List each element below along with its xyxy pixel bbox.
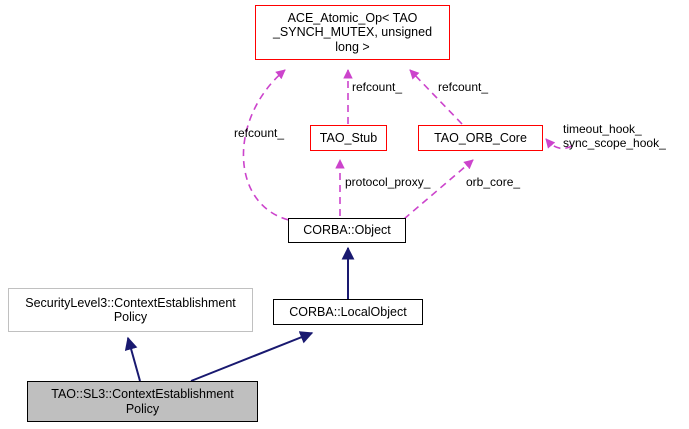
edge-tao-sl3-policy-to-corba-localobject <box>191 333 312 381</box>
edge-layer <box>0 0 689 429</box>
class-node-tao-sl3-contextestablishmentpolicy[interactable]: TAO::SL3::ContextEstablishment Policy <box>27 381 258 422</box>
edge-label-protocol-proxy: protocol_proxy_ <box>345 175 430 189</box>
edge-tao-orb-core-to-ace-atomic-op <box>410 70 462 124</box>
uml-collaboration-diagram: ACE_Atomic_Op< TAO _SYNCH_MUTEX, unsigne… <box>0 0 689 429</box>
edge-label-refcount-right: refcount_ <box>438 80 488 94</box>
edge-label-timeout-and-sync-scope-hooks: timeout_hook_ sync_scope_hook_ <box>563 122 666 150</box>
edge-corba-object-to-tao-orb-core <box>404 160 473 219</box>
class-node-tao-stub[interactable]: TAO_Stub <box>310 125 387 151</box>
edge-label-refcount-left: refcount_ <box>234 126 284 140</box>
class-node-ace-atomic-op[interactable]: ACE_Atomic_Op< TAO _SYNCH_MUTEX, unsigne… <box>255 5 450 60</box>
class-node-tao-orb-core[interactable]: TAO_ORB_Core <box>418 125 543 151</box>
edge-tao-sl3-policy-to-securitylevel3-policy <box>128 338 140 381</box>
class-node-securitylevel3-contextestablishmentpolicy[interactable]: SecurityLevel3::ContextEstablishment Pol… <box>8 288 253 332</box>
class-node-corba-object[interactable]: CORBA::Object <box>288 218 406 243</box>
edge-label-refcount-mid: refcount_ <box>352 80 402 94</box>
class-node-corba-localobject[interactable]: CORBA::LocalObject <box>273 299 423 325</box>
edge-label-orb-core: orb_core_ <box>466 175 520 189</box>
edge-corba-object-to-ace-atomic-op <box>243 70 300 222</box>
